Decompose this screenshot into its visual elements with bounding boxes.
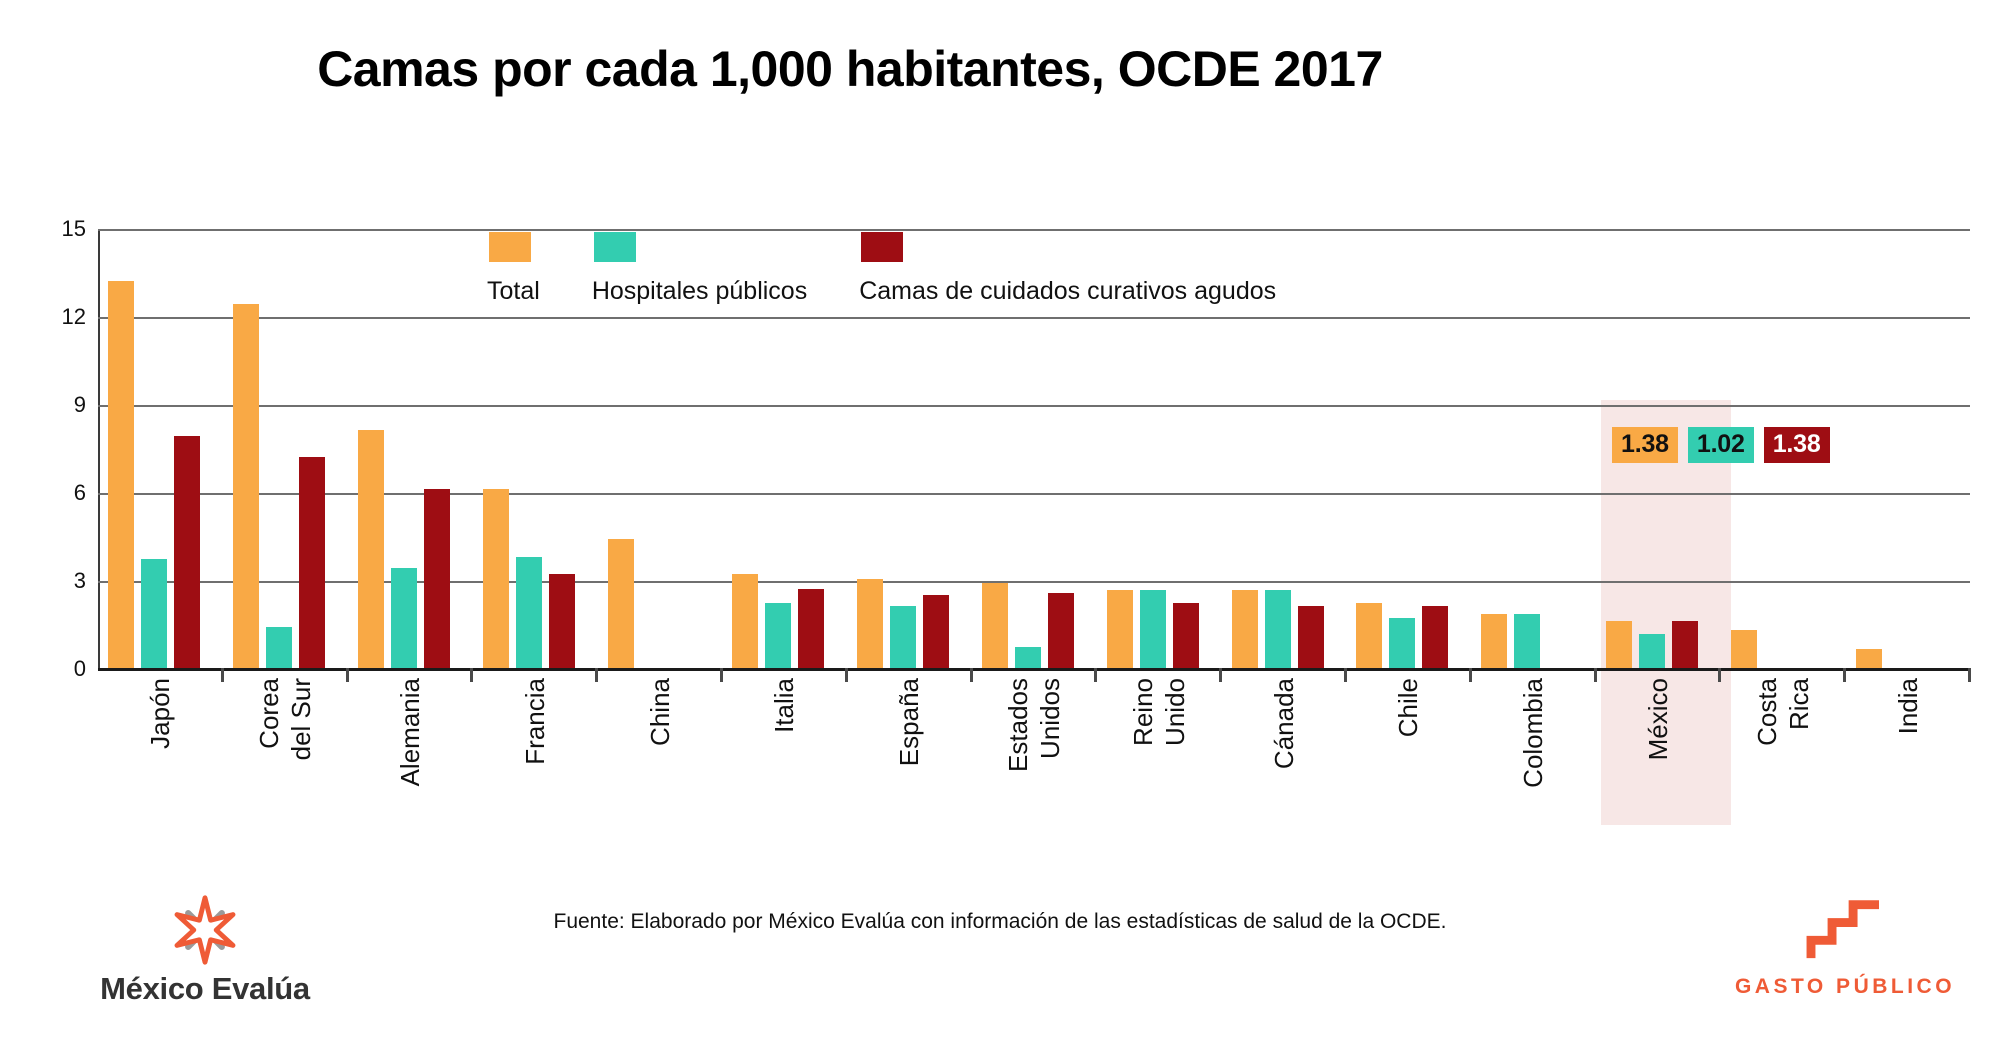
legend-swatch-acute-icon [861,232,903,262]
bar-public [391,568,417,668]
bar-total [1107,590,1133,668]
bar-total [982,583,1008,668]
bar-total [358,430,384,668]
value-label-public: 1.02 [1688,427,1754,463]
x-label-line: Colombia [1519,678,1547,788]
x-label-chile: Chile [1346,678,1471,737]
bar-total [1356,603,1382,668]
x-label-line: España [895,678,923,766]
bar-total [108,281,134,668]
x-label-china: China [597,678,722,746]
bar-public [1140,590,1166,668]
x-label-alemania: Alemania [348,678,473,786]
y-tick-label-9: 9 [26,392,86,418]
x-axis-category-labels: JapónCoreadel SurAlemaniaFranciaChinaIta… [98,678,1970,898]
legend-label-acute: Camas de cuidados curativos agudos [859,277,1276,306]
x-label-india: India [1845,678,1970,734]
x-label-line: Cánada [1270,678,1298,769]
legend-label-public: Hospitales públicos [592,277,807,306]
bar-acute [549,574,575,668]
bar-total [483,489,509,668]
x-label-line: Corea [255,678,283,749]
x-label-line: Italia [770,678,798,733]
x-label-line: Costa [1753,678,1781,746]
x-label-line: Unido [1161,678,1189,746]
x-label-line: Unidos [1036,678,1064,759]
bar-public [141,559,167,668]
x-label-reino-unido: ReinoUnido [1096,678,1221,746]
x-label-line: Estados [1004,678,1032,772]
bar-public [1015,647,1041,668]
x-label-costa-rica: CostaRica [1720,678,1845,746]
x-label-line: Rica [1785,678,1813,730]
bar-acute [299,457,325,668]
y-tick-label-0: 0 [26,656,86,682]
bar-public [516,557,542,668]
bar-public [1265,590,1291,668]
x-label-line: del Sur [287,678,315,760]
y-tick-label-15: 15 [26,216,86,242]
bar-total [1856,649,1882,668]
y-axis: 03691215 [18,230,86,670]
bar-acute [1422,606,1448,668]
legend-swatch-public-icon [594,232,636,262]
value-label-acute: 1.38 [1764,427,1830,463]
page-title: Camas por cada 1,000 habitantes, OCDE 20… [0,40,1700,98]
gasto-publico-logo-text: GASTO PÚBLICO [1735,975,1955,999]
bar-public [765,603,791,668]
bar-acute [424,489,450,668]
bar-acute [923,595,949,668]
bar-acute [1298,606,1324,668]
bar-total [233,304,259,668]
bar-public [1639,634,1665,668]
x-label-line: China [646,678,674,746]
bar-total [1232,590,1258,668]
x-label-francia: Francia [472,678,597,765]
staircase-icon [1804,895,1886,963]
legend-item-total[interactable]: Total [487,232,540,306]
x-label-line: Reino [1129,678,1157,746]
bar-total [732,574,758,668]
x-label-japón: Japón [98,678,223,749]
x-label-line: Francia [521,678,549,765]
mexico-evalua-logo-text: México Evalúa [100,971,310,1007]
x-label-corea-del-sur: Coreadel Sur [223,678,348,760]
x-label-line: India [1894,678,1922,734]
bar-acute [1672,621,1698,668]
bar-acute [1048,593,1074,668]
legend-item-acute[interactable]: Camas de cuidados curativos agudos [859,232,1276,306]
bar-total [608,539,634,668]
legend-swatch-total-icon [489,232,531,262]
bar-total [857,579,883,668]
mexico-value-labels: 1.38 1.02 1.38 [1612,427,1830,463]
x-label-colombia: Colombia [1471,678,1596,788]
bar-acute [174,436,200,668]
value-label-total: 1.38 [1612,427,1678,463]
star-icon [166,895,244,965]
legend: Total Hospitales públicos Camas de cuida… [487,232,1276,306]
y-tick-label-6: 6 [26,480,86,506]
bar-acute [1173,603,1199,668]
mexico-evalua-logo: México Evalúa [60,895,350,1007]
y-tick-label-3: 3 [26,568,86,594]
legend-label-total: Total [487,277,540,306]
x-label-line: Japón [146,678,174,749]
y-tick-label-12: 12 [26,304,86,330]
x-label-españa: España [847,678,972,766]
x-label-méxico: México [1596,678,1721,760]
x-label-italia: Italia [722,678,847,733]
bar-acute [798,589,824,668]
bar-total [1731,630,1757,668]
legend-item-public[interactable]: Hospitales públicos [592,232,807,306]
bar-total [1606,621,1632,668]
bar-public [1389,618,1415,668]
gasto-publico-logo: GASTO PÚBLICO [1700,895,1990,999]
bar-total [1481,614,1507,668]
x-label-line: México [1644,678,1672,760]
bar-public [266,627,292,668]
bar-public [890,606,916,668]
x-label-estados-unidos: EstadosUnidos [972,678,1097,772]
x-label-line: Alemania [396,678,424,786]
x-label-line: Chile [1394,678,1422,737]
x-label-cánada: Cánada [1221,678,1346,769]
bar-public [1514,614,1540,668]
